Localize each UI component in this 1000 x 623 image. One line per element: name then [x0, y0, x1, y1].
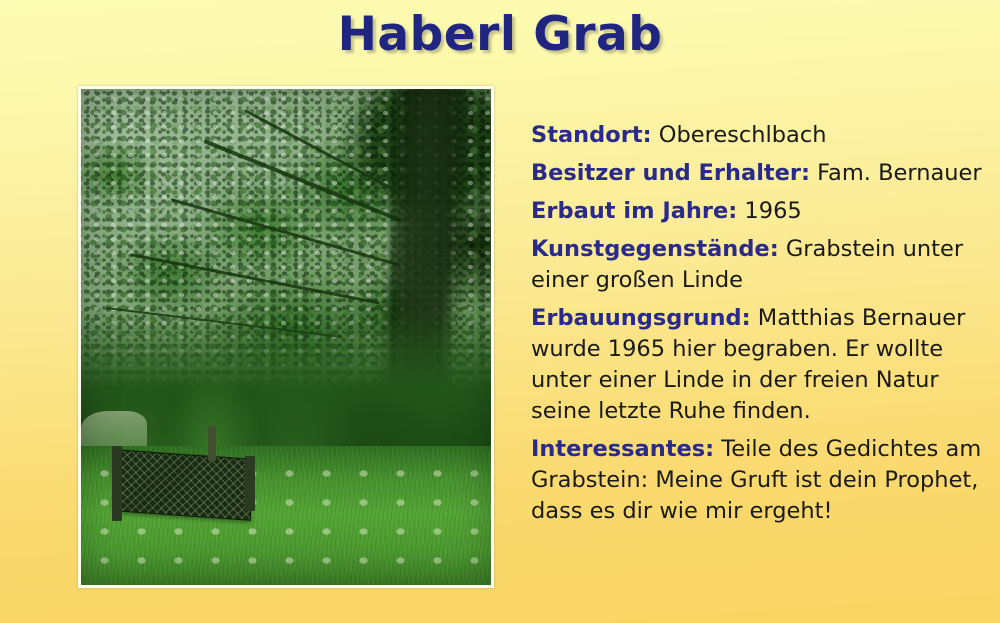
- slide-canvas: Haberl Grab Standort: Ob: [0, 0, 1000, 623]
- info-label: Erbauungsgrund:: [531, 305, 751, 331]
- grave-post-left: [112, 446, 122, 520]
- info-list: Standort: Obereschlbach Besitzer und Erh…: [531, 120, 993, 527]
- info-value: Fam. Bernauer: [810, 160, 982, 186]
- info-label: Erbaut im Jahre:: [531, 198, 737, 224]
- info-value: 1965: [737, 198, 801, 224]
- info-row-besitzer: Besitzer und Erhalter: Fam. Bernauer: [531, 158, 993, 189]
- photo-frame: [78, 86, 494, 588]
- info-label: Kunstgegenstände:: [531, 236, 779, 262]
- info-label: Besitzer und Erhalter:: [531, 160, 810, 186]
- info-label: Interessantes:: [531, 436, 714, 462]
- info-value: Obereschlbach: [652, 122, 827, 148]
- info-row-kunstgegenstaende: Kunstgegenstände: Grabstein unter einer …: [531, 234, 993, 296]
- grave-enclosure: [114, 449, 251, 520]
- info-label: Standort:: [531, 122, 652, 148]
- info-row-interessantes: Interessantes: Teile des Gedichtes am Gr…: [531, 434, 993, 527]
- info-row-erbaut: Erbaut im Jahre: 1965: [531, 196, 993, 227]
- info-row-erbauungsgrund: Erbauungsgrund: Matthias Bernauer wurde …: [531, 303, 993, 427]
- info-row-standort: Standort: Obereschlbach: [531, 120, 993, 151]
- grave-photo: [81, 89, 491, 585]
- gravestone: [208, 426, 216, 461]
- grave-post-right: [245, 456, 255, 511]
- page-title: Haberl Grab: [0, 8, 1000, 62]
